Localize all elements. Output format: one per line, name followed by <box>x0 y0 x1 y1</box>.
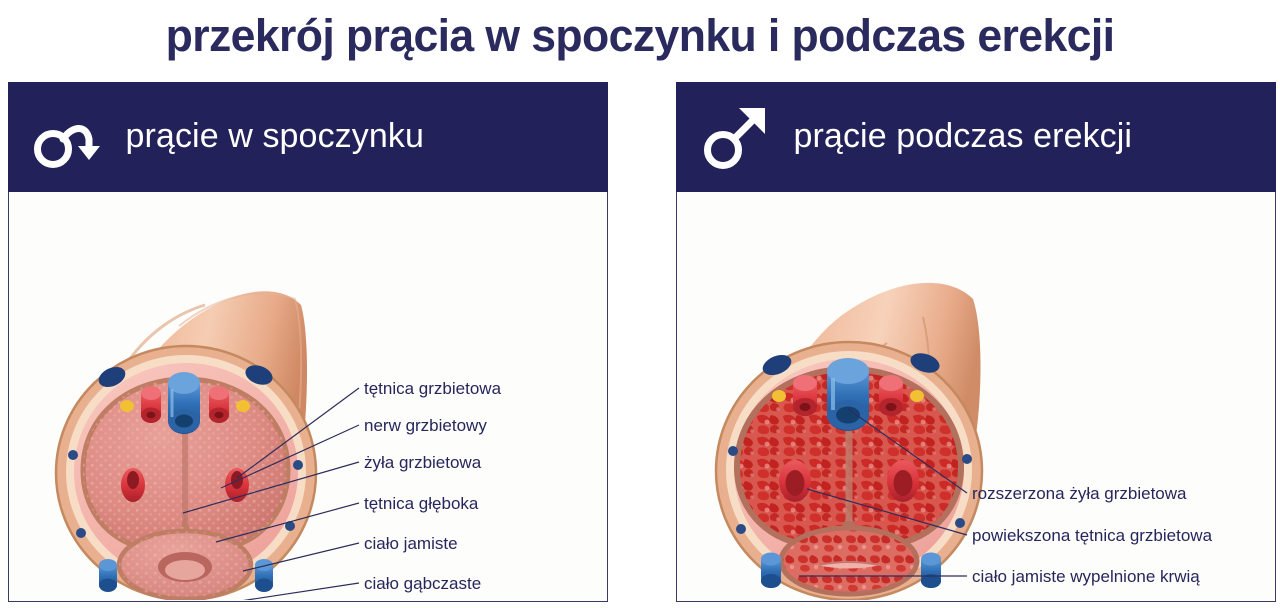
dorsal-nerve-right <box>236 400 250 412</box>
label-dorsal-nerve[interactable]: nerw grzbietowy <box>364 416 487 436</box>
dorsal-nerve-left <box>120 400 134 412</box>
dorsal-artery-left <box>141 386 161 423</box>
page-title: przekrój prącia w spoczynku i podczas er… <box>6 4 1273 68</box>
dorsal-artery-right <box>209 386 229 423</box>
panel-flaccid: prącie w spoczynku <box>8 82 608 602</box>
panel-erect: prącie podczas erekcji <box>676 82 1276 602</box>
male-mars-symbol-icon <box>676 82 794 192</box>
dorsal-nerve-left-erect <box>772 390 786 402</box>
label-deep-artery[interactable]: tętnica głęboka <box>364 494 478 514</box>
panel-erect-title: prącie podczas erekcji <box>794 117 1133 156</box>
male-flaccid-symbol-icon <box>8 82 126 192</box>
label-blood-filled-corpus-cavernosum[interactable]: ciało jamiste wypelnione krwią <box>972 567 1200 587</box>
label-enlarged-dorsal-artery[interactable]: powiekszona tętnica grzbietowa <box>972 526 1212 546</box>
flaccid-cross-section-illustration <box>9 193 606 600</box>
label-dorsal-artery[interactable]: tętnica grzbietowa <box>364 379 501 399</box>
deep-artery-left <box>121 468 145 502</box>
label-corpus-cavernosum[interactable]: ciało jamiste <box>364 534 458 554</box>
label-dilated-dorsal-vein[interactable]: rozszerzona żyła grzbietowa <box>972 484 1186 504</box>
panel-flaccid-body: tętnica grzbietowa nerw grzbietowy żyła … <box>9 193 606 600</box>
deep-artery-left-erect <box>779 460 811 502</box>
panel-flaccid-header: prącie w spoczynku <box>8 82 608 192</box>
dorsal-vein <box>168 372 200 434</box>
label-dorsal-vein[interactable]: żyła grzbietowa <box>364 453 481 473</box>
panel-erect-body: rozszerzona żyła grzbietowa powiekszona … <box>677 193 1274 600</box>
panel-flaccid-title: prącie w spoczynku <box>126 117 425 156</box>
dorsal-artery-left-erect <box>793 375 817 416</box>
label-corpus-spongiosum[interactable]: ciało gąbczaste <box>364 574 481 594</box>
dorsal-artery-right-erect <box>879 375 903 416</box>
deep-artery-right-erect <box>887 460 919 502</box>
dorsal-nerve-right-erect <box>910 390 924 402</box>
panel-erect-header: prącie podczas erekcji <box>676 82 1276 192</box>
